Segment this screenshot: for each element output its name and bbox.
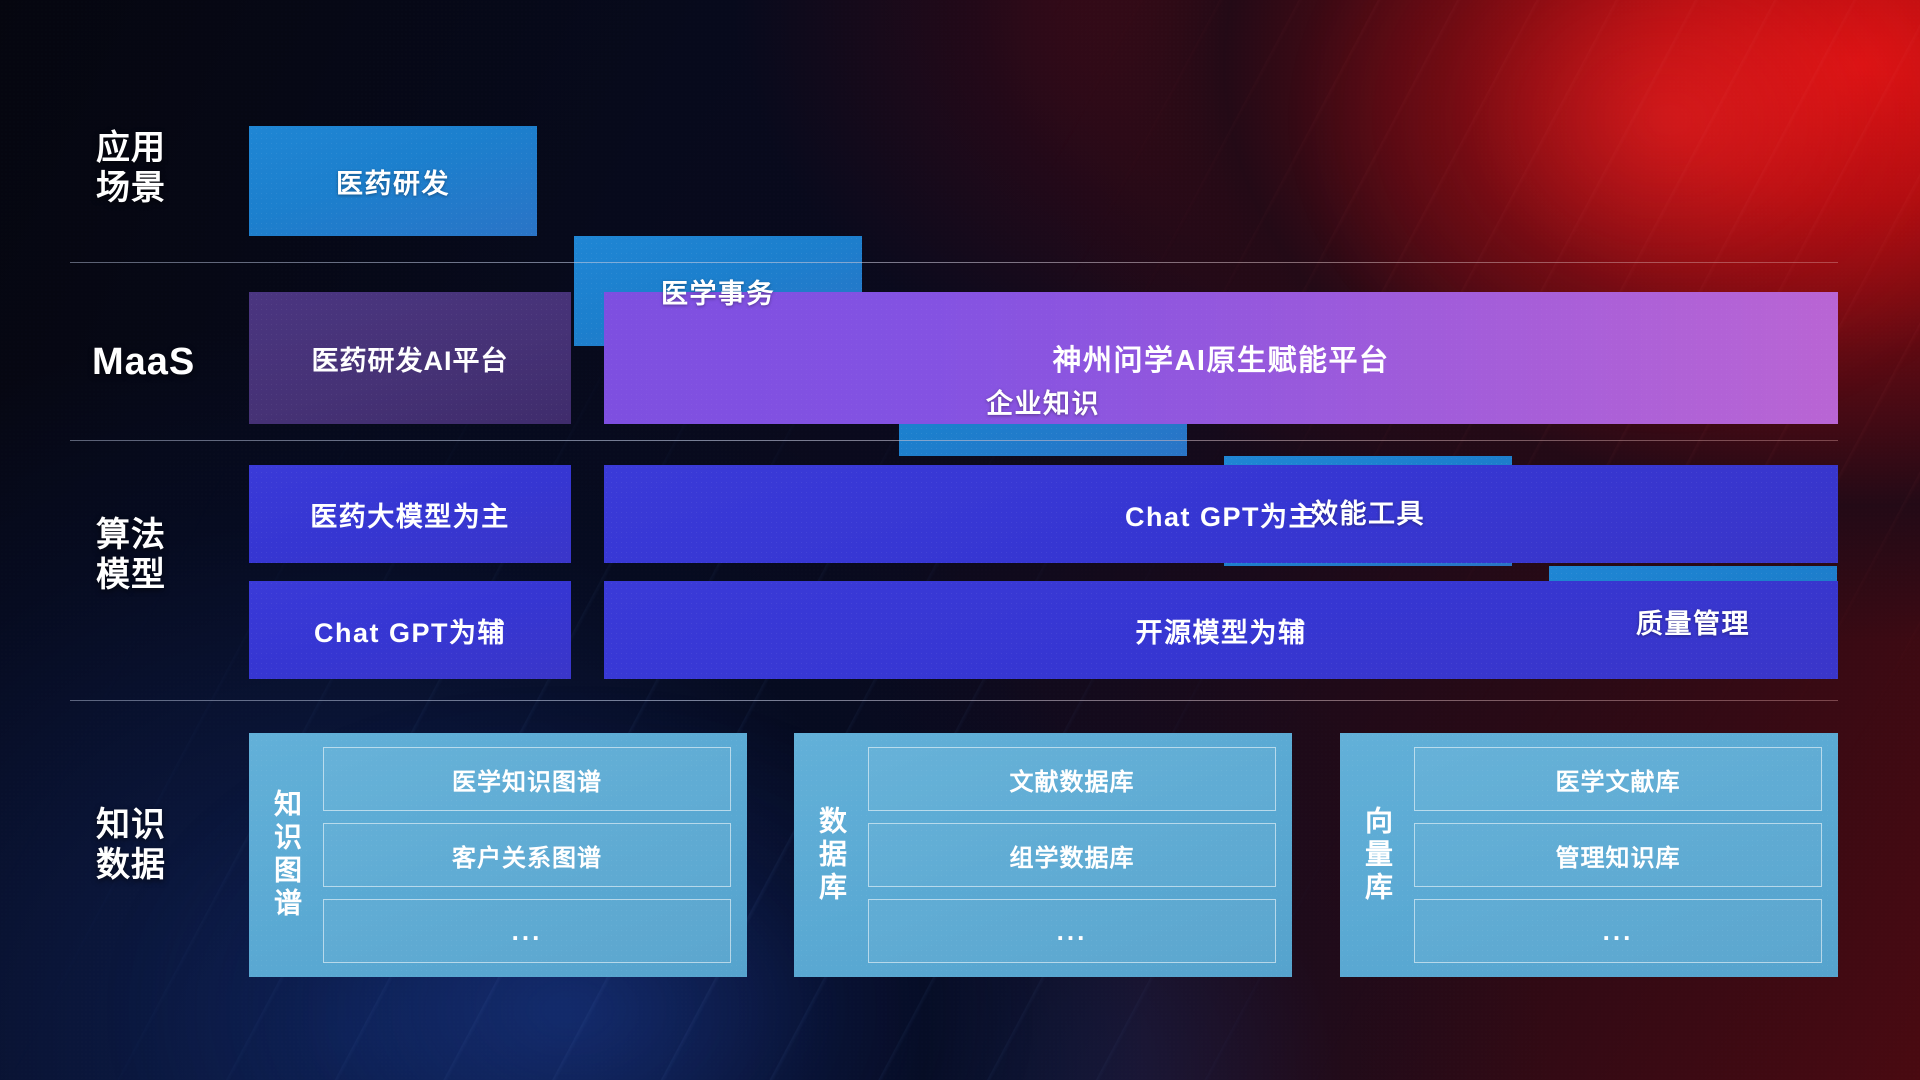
knowledge-item-1-3[interactable]: ...	[323, 899, 731, 963]
diagram-canvas: 应用 场景 医药研发 医学事务 企业知识 效能工具 质量管理 MaaS 医药研发…	[0, 0, 1920, 1080]
app-scenario-label-1: 医药研发	[336, 162, 450, 201]
knowledge-panel-title-3: 向量库	[1354, 747, 1400, 963]
knowledge-item-1-2[interactable]: 客户关系图谱	[323, 823, 731, 887]
app-scenario-label-5: 质量管理	[1636, 602, 1750, 641]
tier-label-maas-text: MaaS	[92, 340, 242, 385]
tier-label-line-2: 场景	[96, 168, 246, 208]
knowledge-item-3-2[interactable]: 管理知识库	[1414, 823, 1822, 887]
knowledge-panel-vector-store[interactable]: 向量库 医学文献库 管理知识库 ...	[1340, 733, 1838, 977]
maas-platform-label-right: 神州问学AI原生赋能平台	[1052, 337, 1389, 379]
app-scenario-box-1[interactable]: 医药研发	[249, 126, 537, 236]
algo-label-row1-right: Chat GPT为主	[1125, 495, 1317, 534]
tier-divider-2	[70, 440, 1838, 441]
tier-label-kd-line-2: 数据	[96, 845, 246, 885]
app-scenario-label-2: 医学事务	[661, 272, 775, 311]
knowledge-item-3-1[interactable]: 医学文献库	[1414, 747, 1822, 811]
app-scenario-label-3: 企业知识	[986, 382, 1100, 421]
tier-divider-3	[70, 700, 1838, 701]
knowledge-item-1-1[interactable]: 医学知识图谱	[323, 747, 731, 811]
tier-label-maas: MaaS	[92, 340, 242, 385]
knowledge-item-2-3[interactable]: ...	[868, 899, 1276, 963]
algo-box-row1-right[interactable]: Chat GPT为主	[604, 465, 1838, 563]
tier-label-application-scenarios: 应用 场景	[96, 128, 246, 208]
knowledge-panel-title-2: 数据库	[808, 747, 854, 963]
tier-label-algo-line-2: 模型	[96, 555, 246, 595]
maas-platform-box-right[interactable]: 神州问学AI原生赋能平台	[604, 292, 1838, 424]
tier-label-line-1: 应用	[96, 128, 246, 168]
algo-label-row2-left: Chat GPT为辅	[314, 611, 506, 650]
tier-label-knowledge-data: 知识 数据	[96, 805, 246, 885]
tier-label-algorithm-models: 算法 模型	[96, 515, 246, 595]
knowledge-panel-title-1: 知识图谱	[263, 747, 309, 963]
algo-box-row1-left[interactable]: 医药大模型为主	[249, 465, 571, 563]
knowledge-item-3-3[interactable]: ...	[1414, 899, 1822, 963]
knowledge-panel-knowledge-graph[interactable]: 知识图谱 医学知识图谱 客户关系图谱 ...	[249, 733, 747, 977]
knowledge-item-list-2: 文献数据库 组学数据库 ...	[868, 747, 1276, 963]
maas-platform-box-left[interactable]: 医药研发AI平台	[249, 292, 571, 424]
knowledge-item-2-2[interactable]: 组学数据库	[868, 823, 1276, 887]
tier-divider-1	[70, 262, 1838, 263]
tier-label-algo-line-1: 算法	[96, 515, 246, 555]
app-scenario-label-4: 效能工具	[1311, 492, 1425, 531]
algo-label-row2-right: 开源模型为辅	[1136, 611, 1307, 650]
algo-label-row1-left: 医药大模型为主	[310, 495, 510, 534]
knowledge-item-list-1: 医学知识图谱 客户关系图谱 ...	[323, 747, 731, 963]
maas-platform-label-left: 医药研发AI平台	[312, 339, 509, 378]
knowledge-item-2-1[interactable]: 文献数据库	[868, 747, 1276, 811]
tier-label-kd-line-1: 知识	[96, 805, 246, 845]
knowledge-panel-database[interactable]: 数据库 文献数据库 组学数据库 ...	[794, 733, 1292, 977]
knowledge-item-list-3: 医学文献库 管理知识库 ...	[1414, 747, 1822, 963]
algo-box-row2-left[interactable]: Chat GPT为辅	[249, 581, 571, 679]
